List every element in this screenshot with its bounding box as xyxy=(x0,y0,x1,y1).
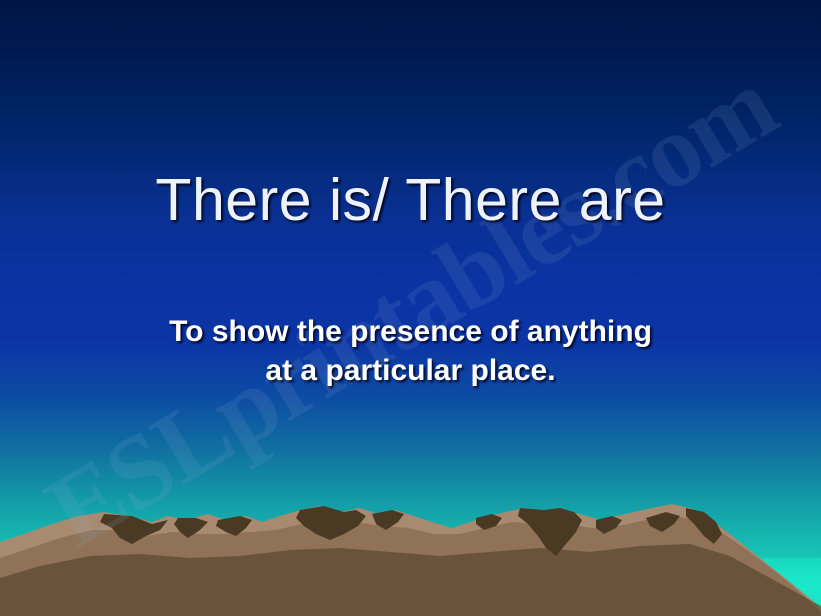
slide-text-layer: There is/ There are To show the presence… xyxy=(0,0,821,616)
slide-subtitle-line-2: at a particular place. xyxy=(0,351,821,390)
slide-subtitle: To show the presence of anything at a pa… xyxy=(0,312,821,390)
presentation-slide: ESLprintables.com There is/ There are To… xyxy=(0,0,821,616)
slide-subtitle-line-1: To show the presence of anything xyxy=(0,312,821,351)
slide-title: There is/ There are xyxy=(0,170,821,232)
